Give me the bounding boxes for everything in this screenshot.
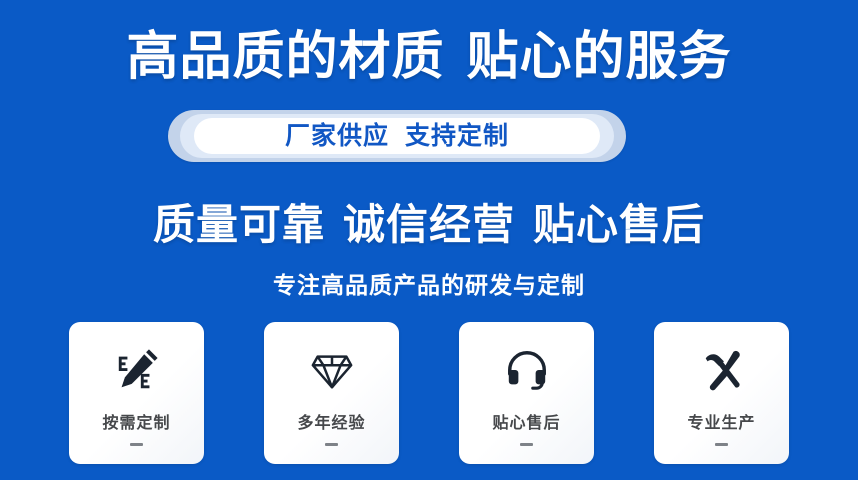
- pill-banner-inner: 厂家供应支持定制: [194, 118, 600, 154]
- diamond-icon: [306, 344, 358, 396]
- headline-main: 高品质的材质贴心的服务: [0, 26, 858, 88]
- tagline: 专注高品质产品的研发与定制: [0, 270, 858, 300]
- feature-card-production[interactable]: 专业生产: [654, 322, 789, 464]
- feature-card-label: 按需定制: [102, 414, 170, 434]
- feature-card-label: 专业生产: [687, 414, 755, 434]
- promo-banner: 高品质的材质贴心的服务 厂家供应支持定制 质量可靠诚信经营贴心售后 专注高品质产…: [0, 0, 858, 480]
- card-divider-dash: [130, 443, 143, 446]
- headline-sub: 质量可靠诚信经营贴心售后: [0, 198, 858, 252]
- feature-card-custom[interactable]: 按需定制: [69, 322, 204, 464]
- feature-card-list: 按需定制 多年经验: [69, 322, 789, 464]
- headline-sub-part2: 诚信经营: [343, 201, 515, 248]
- headline-sub-part3: 贴心售后: [533, 201, 705, 248]
- pill-text-part2: 支持定制: [405, 122, 509, 150]
- pill-banner-middle: 厂家供应支持定制: [180, 114, 614, 158]
- feature-card-label: 多年经验: [297, 414, 365, 434]
- hammer-screwdriver-icon: [696, 344, 748, 396]
- card-divider-dash: [520, 443, 533, 446]
- feature-card-label: 贴心售后: [492, 414, 560, 434]
- feature-card-experience[interactable]: 多年经验: [264, 322, 399, 464]
- headline-main-part2: 贴心的服务: [467, 28, 732, 86]
- pill-banner-text: 厂家供应支持定制: [285, 118, 509, 154]
- pill-banner-outer: 厂家供应支持定制: [168, 110, 626, 162]
- headline-sub-part1: 质量可靠: [153, 201, 325, 248]
- card-divider-dash: [325, 443, 338, 446]
- pencil-ruler-icon: [111, 344, 163, 396]
- headline-main-part1: 高品质的材质: [126, 28, 444, 86]
- headset-icon: [501, 344, 553, 396]
- pill-text-part1: 厂家供应: [285, 122, 389, 150]
- feature-card-aftersales[interactable]: 贴心售后: [459, 322, 594, 464]
- card-divider-dash: [715, 443, 728, 446]
